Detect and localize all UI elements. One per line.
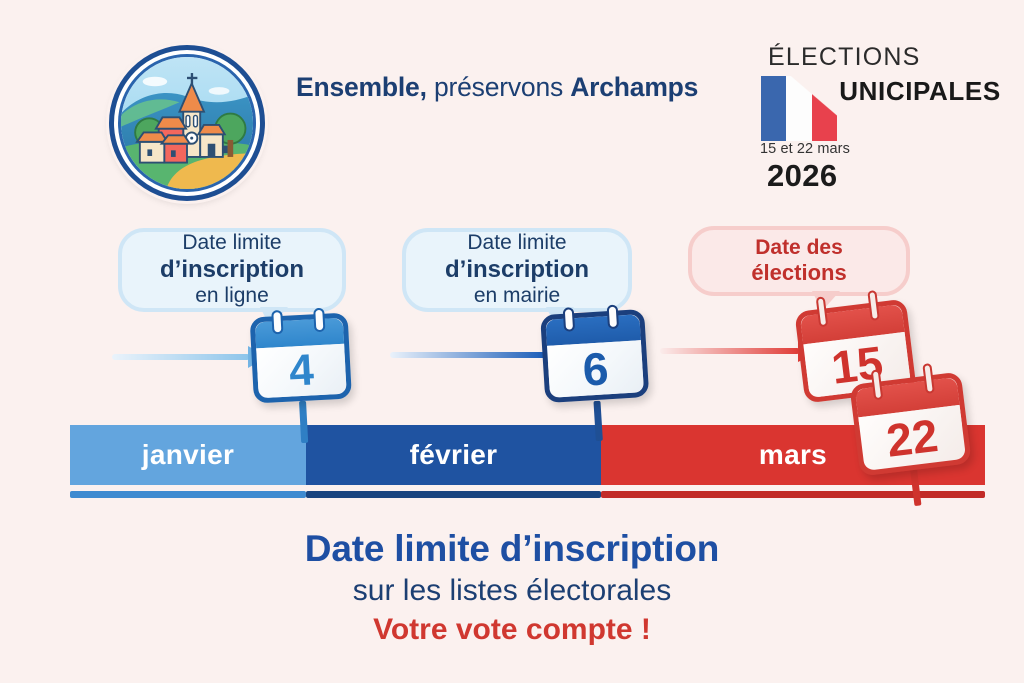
- timeline-month-janvier: janvier: [70, 425, 306, 485]
- timeline-month-fevrier: février: [306, 425, 601, 485]
- calendar-6-stem: [593, 401, 602, 441]
- bubble3-line1: Date des: [692, 236, 906, 261]
- arrow-to-calendar-6-icon: [390, 344, 565, 366]
- arrow3-shaft: [660, 348, 800, 354]
- bubble2-line3: en mairie: [406, 284, 628, 309]
- arrow1-shaft: [112, 354, 250, 360]
- calendar-6-body: 6: [540, 309, 649, 403]
- footer-line1: Date limite d’inscription: [0, 528, 1024, 570]
- timeline-underline-janvier: [70, 491, 306, 498]
- footer-line3: Votre vote compte !: [0, 613, 1024, 647]
- infographic-canvas: Ensemble, préservons Archamps ÉLECTIONS …: [0, 0, 1024, 683]
- arrow-to-calendar-15-icon: [660, 340, 820, 362]
- calendar-4-ring-right: [313, 308, 325, 333]
- calendar-4-stem: [299, 401, 308, 443]
- emblem-inner-ring: [118, 54, 256, 192]
- calendar-6-icon: 6: [540, 309, 650, 413]
- archamps-village-emblem-icon: [109, 45, 265, 201]
- calendar-4-day: 4: [288, 348, 315, 393]
- bubble-inscription-en-ligne: Date limite d’inscription en ligne: [118, 228, 346, 312]
- calendar-6-page: 6: [547, 340, 644, 398]
- calendar-6-day: 6: [581, 345, 609, 392]
- calendar-22-body: 22: [849, 372, 971, 477]
- tagline-part1: Ensemble,: [296, 72, 427, 102]
- calendar-22-stem: [910, 468, 922, 507]
- election-year: 2026: [767, 158, 838, 194]
- bubble1-line2: d’inscription: [122, 256, 342, 284]
- bubble-inscription-en-mairie: Date limite d’inscription en mairie: [402, 228, 632, 312]
- month-label-janvier: janvier: [142, 439, 234, 471]
- calendar-6-ring-right: [607, 305, 619, 330]
- timeline-underline-mars: [601, 491, 985, 498]
- month-label-fevrier: février: [410, 439, 498, 471]
- arrow-to-calendar-4-icon: [112, 346, 267, 368]
- month-label-mars: mars: [759, 439, 827, 471]
- tagline: Ensemble, préservons Archamps: [296, 72, 736, 103]
- calendar-22-day: 22: [884, 412, 940, 464]
- calendar-22-page: 22: [858, 405, 966, 471]
- calendar-4-ring-left: [271, 310, 283, 335]
- bubble-date-des-elections: Date des élections: [688, 226, 910, 296]
- tagline-part2: préservons: [434, 72, 563, 102]
- timeline-underline-fevrier: [306, 491, 601, 498]
- bubble1-line3: en ligne: [122, 284, 342, 309]
- calendar-6-ring-left: [563, 307, 575, 332]
- calendar-4-page: 4: [256, 344, 346, 399]
- bubble3-line2: élections: [692, 260, 906, 286]
- bubble2-line2: d’inscription: [406, 256, 628, 284]
- election-logo-line2: MUNICIPALES: [817, 76, 1001, 107]
- election-dates: 15 et 22 mars: [760, 141, 850, 157]
- village-scene-icon: [121, 57, 253, 189]
- tagline-part3: Archamps: [570, 72, 698, 102]
- arrow2-shaft: [390, 352, 546, 358]
- election-logo-line1: ÉLECTIONS: [768, 43, 921, 72]
- flag-diagonal-cut: [761, 76, 837, 141]
- calendar-22-icon: 22: [849, 372, 972, 485]
- calendar-4-body: 4: [250, 313, 352, 404]
- bubble2-line1: Date limite: [406, 231, 628, 256]
- french-flag-icon: [761, 76, 837, 141]
- election-logo: ÉLECTIONS MUNICIPALES 15 et 22 mars 2026: [755, 38, 1000, 188]
- bubble1-line1: Date limite: [122, 231, 342, 256]
- footer-line2: sur les listes électorales: [0, 574, 1024, 608]
- calendar-4-icon: 4: [250, 313, 353, 413]
